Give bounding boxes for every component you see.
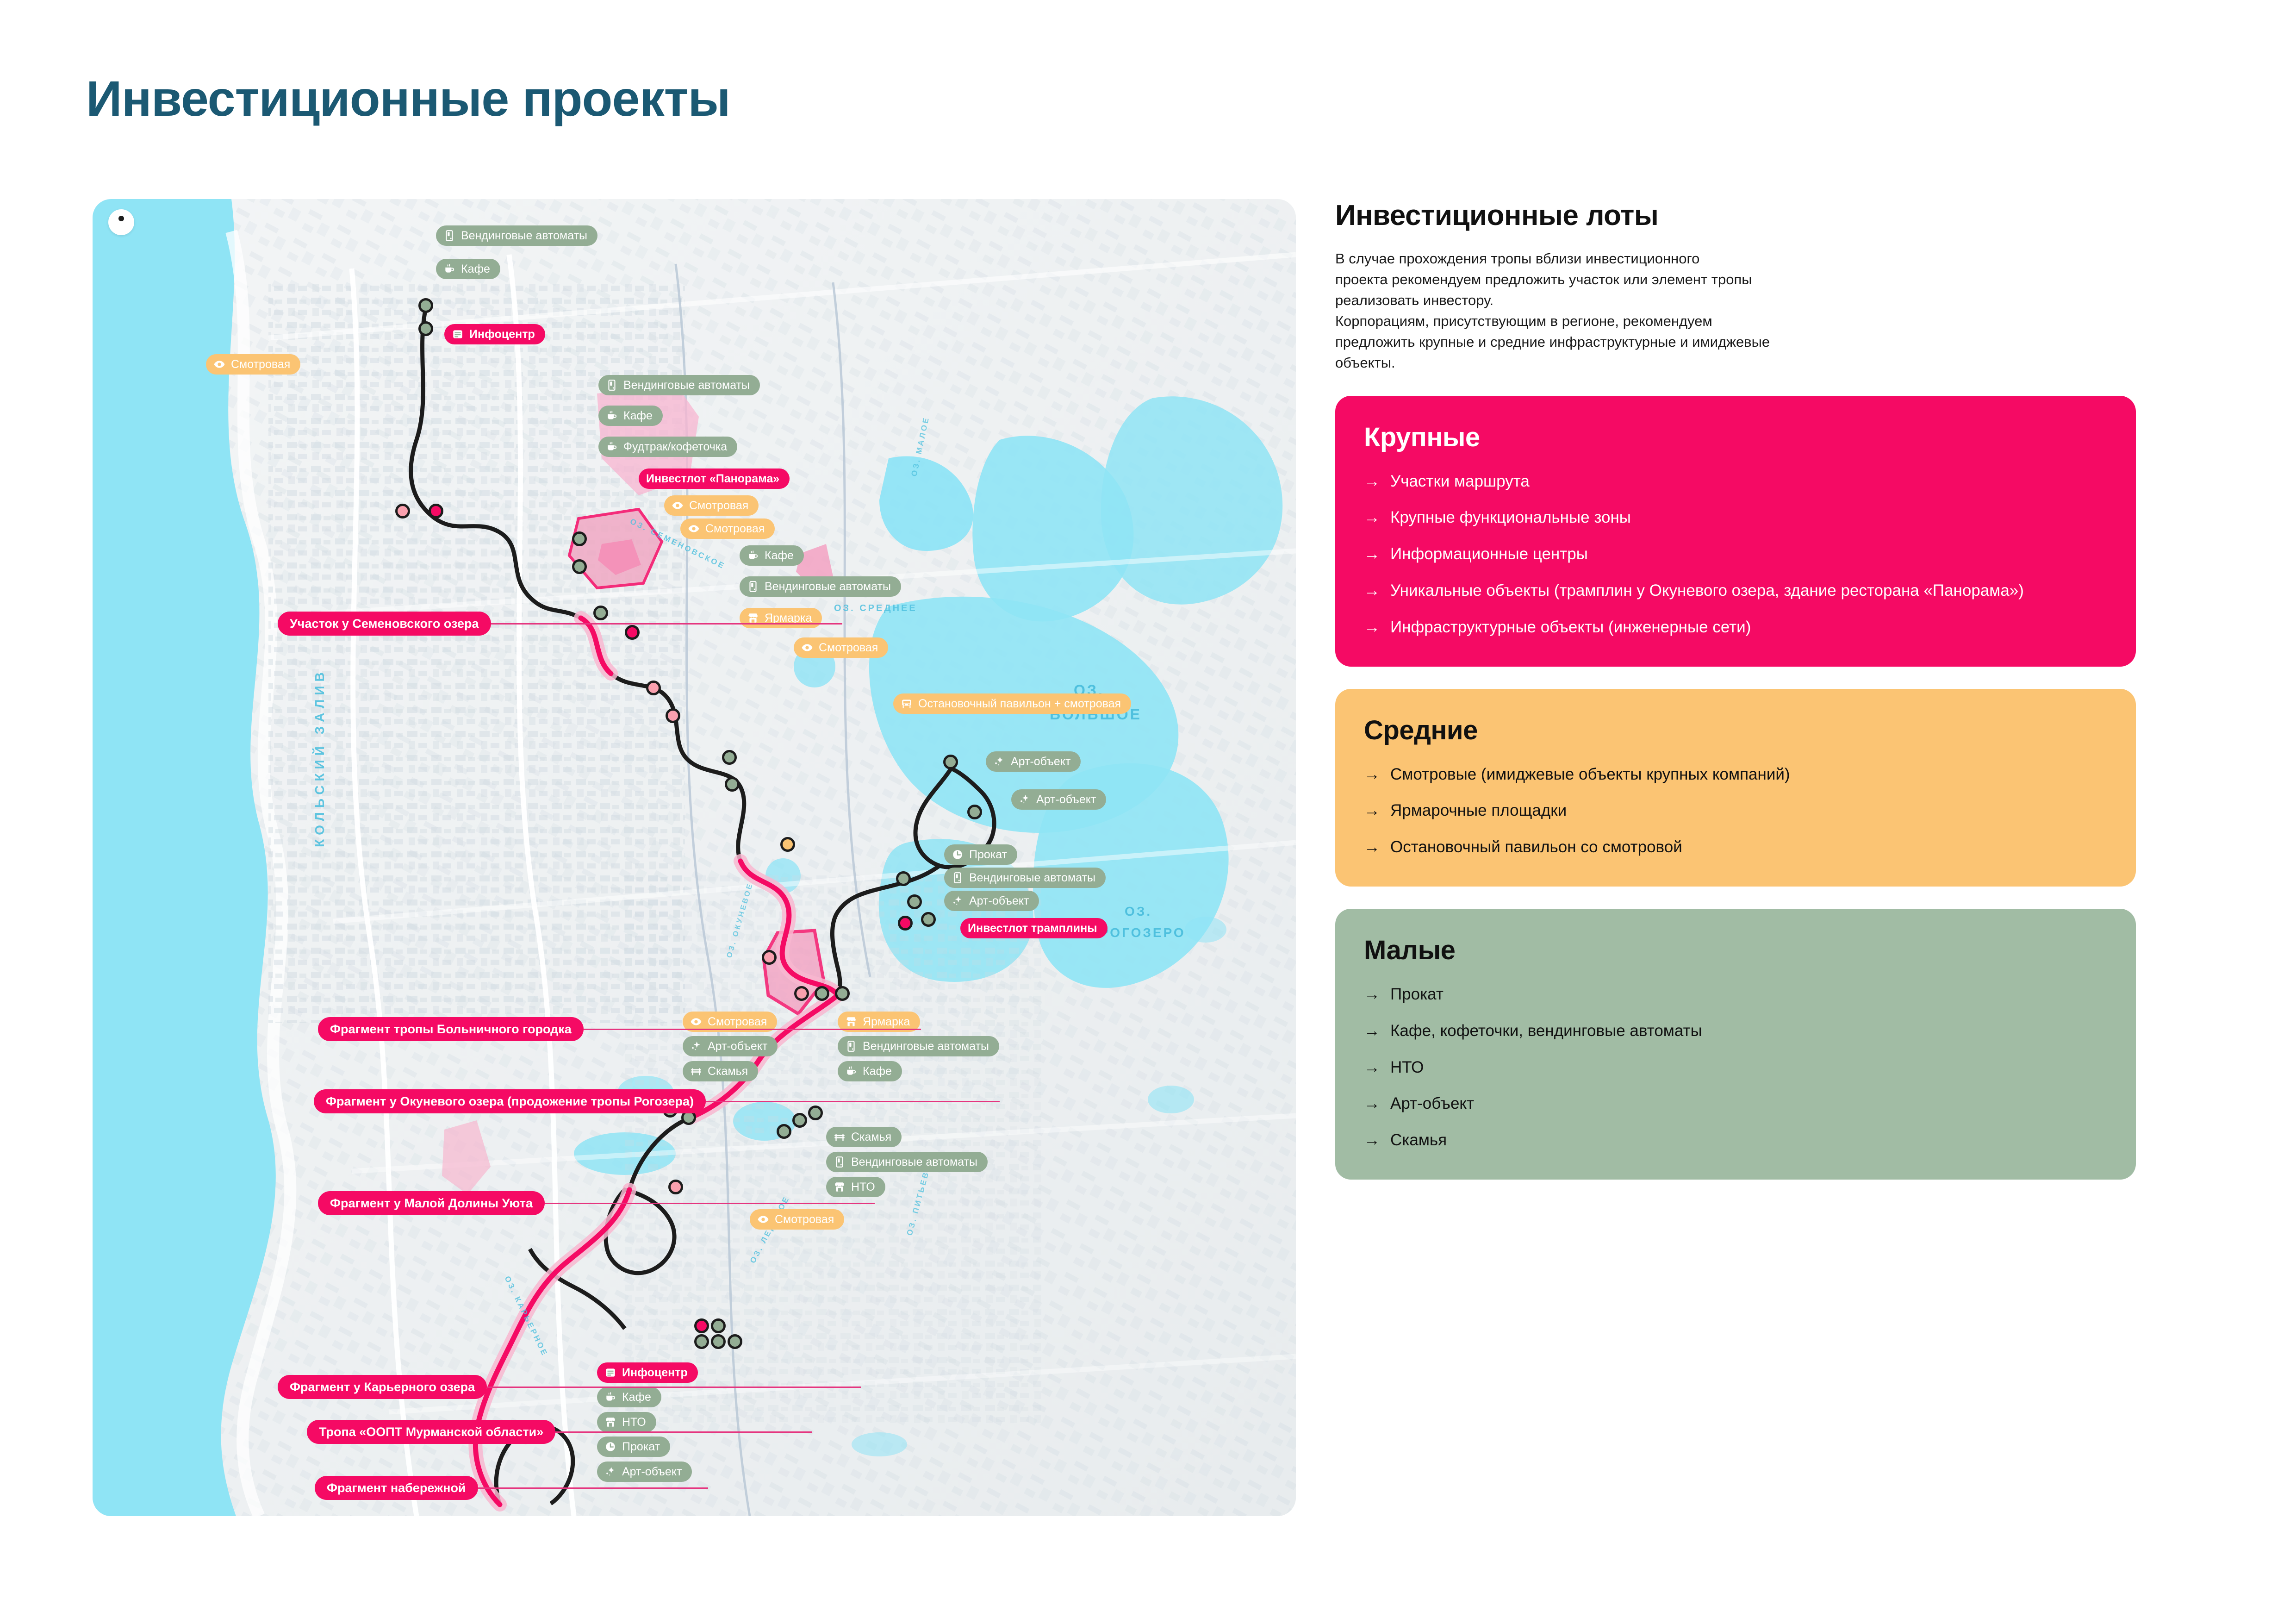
map-chip-c28[interactable]: Скамья bbox=[826, 1127, 902, 1147]
map-chip-label: Смотровая bbox=[231, 359, 290, 370]
lot-card-item-label: Уникальные объекты (трамплин у Окуневого… bbox=[1390, 581, 2024, 601]
svg-text:ОЗ. СРЕДНЕЕ: ОЗ. СРЕДНЕЕ bbox=[834, 603, 917, 613]
trail-point[interactable] bbox=[666, 708, 680, 723]
map-chip-c20[interactable]: Арт-объект bbox=[944, 891, 1039, 911]
map-chip-c13[interactable]: Ярмарка bbox=[740, 608, 822, 628]
lots-description-line: реализовать инвестору. bbox=[1335, 290, 2136, 311]
kiosk-icon bbox=[604, 1416, 616, 1428]
lot-card-item: →Прокат bbox=[1364, 984, 2107, 1005]
map-chip-c30[interactable]: НТО bbox=[826, 1177, 885, 1197]
lots-description: В случае прохождения тропы вблизи инвест… bbox=[1335, 249, 2136, 374]
market-stall-icon bbox=[747, 612, 759, 624]
lot-card-item: →Инфраструктурные объекты (инженерные се… bbox=[1364, 617, 2107, 638]
map-chip-label: Инвестлот «Панорама» bbox=[646, 473, 779, 485]
map-chip-c7[interactable]: Фудтрак/кофеточка bbox=[598, 437, 737, 457]
arrow-right-icon: → bbox=[1364, 1057, 1380, 1078]
trail-point[interactable] bbox=[395, 504, 410, 518]
lot-card-item-label: Прокат bbox=[1390, 984, 1444, 1005]
map-chip-c5[interactable]: Вендинговые автоматы bbox=[598, 375, 760, 395]
svg-text:ОЗ.: ОЗ. bbox=[1125, 904, 1152, 918]
lot-card-big: Крупные→Участки маршрута→Крупные функцио… bbox=[1335, 396, 2136, 667]
map-chip-c23[interactable]: Арт-объект bbox=[683, 1036, 778, 1056]
lot-card-item: →Уникальные объекты (трамплин у Окуневог… bbox=[1364, 581, 2107, 601]
map-chip-c18[interactable]: Прокат bbox=[944, 844, 1017, 865]
map-chip-c15[interactable]: Остановочный павильон + смотровая bbox=[893, 693, 1131, 714]
trail-point[interactable] bbox=[896, 871, 911, 886]
lot-card-title: Средние bbox=[1364, 715, 2107, 746]
map-callout-k6[interactable]: Тропа «ООПТ Мурманской области» bbox=[307, 1420, 555, 1444]
map-chip-c34[interactable]: НТО bbox=[597, 1412, 656, 1432]
map-chip-label: Фудтрак/кофеточка bbox=[623, 441, 727, 453]
market-stall-icon bbox=[845, 1016, 857, 1028]
trail-point[interactable] bbox=[762, 950, 777, 965]
callout-leader-line bbox=[545, 1203, 875, 1204]
map-chip-label: НТО bbox=[622, 1417, 646, 1428]
map-callout-k7[interactable]: Фрагмент набережной bbox=[315, 1476, 478, 1500]
map-chip-c24[interactable]: Скамья bbox=[683, 1061, 758, 1081]
eye-icon bbox=[213, 358, 225, 370]
map-chip-label: Инфоцентр bbox=[469, 329, 535, 340]
map-panel[interactable]: ОЗ. БОЛЬШОЕ ОЗ. РОГОЗЕРО ОЗ. СРЕДНЕЕ ОЗ.… bbox=[93, 199, 1296, 1516]
lots-description-line: Корпорациям, присутствующим в регионе, р… bbox=[1335, 311, 2136, 332]
trail-point[interactable] bbox=[794, 986, 809, 1001]
vending-machine-icon bbox=[952, 872, 964, 884]
eye-icon bbox=[801, 642, 813, 654]
map-chip-label: Арт-объект bbox=[1036, 794, 1096, 806]
trail-point[interactable] bbox=[418, 321, 433, 336]
lot-card-item: →Смотровые (имиджевые объекты крупных ко… bbox=[1364, 764, 2107, 785]
map-chip-label: Скамья bbox=[708, 1066, 748, 1077]
map-chip-c3[interactable]: Инфоцентр bbox=[444, 324, 545, 344]
trail-point[interactable] bbox=[572, 559, 587, 574]
map-chip-label: Скамья bbox=[851, 1131, 891, 1143]
callout-leader-line bbox=[491, 623, 842, 625]
lot-card-item: →Ярмарочные площадки bbox=[1364, 800, 2107, 821]
lot-card-item: →Участки маршрута bbox=[1364, 471, 2107, 492]
map-chip-c17[interactable]: Арт-объект bbox=[1011, 789, 1106, 810]
sparkle-icon bbox=[604, 1466, 616, 1478]
kiosk-icon bbox=[834, 1181, 846, 1193]
map-chip-label: Ярмарка bbox=[765, 612, 812, 624]
map-chip-label: Смотровая bbox=[705, 523, 765, 535]
lot-card-item: →НТО bbox=[1364, 1057, 2107, 1078]
sparkle-icon bbox=[952, 895, 964, 907]
map-chip-c16[interactable]: Арт-объект bbox=[986, 751, 1081, 772]
trail-point[interactable] bbox=[593, 606, 608, 620]
bus-stop-icon bbox=[901, 698, 913, 710]
svg-text:КОЛЬСКИЙ ЗАЛИВ: КОЛЬСКИЙ ЗАЛИВ bbox=[312, 668, 327, 847]
lot-card-list: →Прокат→Кафе, кофеточки, вендинговые авт… bbox=[1364, 984, 2107, 1151]
callout-leader-line bbox=[478, 1487, 708, 1489]
callout-leader-line bbox=[706, 1101, 1000, 1102]
arrow-right-icon: → bbox=[1364, 764, 1380, 785]
map-chip-c31[interactable]: Смотровая bbox=[750, 1209, 844, 1230]
lot-card-item-label: Скамья bbox=[1390, 1130, 1447, 1151]
lot-card-item-label: Крупные функциональные зоны bbox=[1390, 507, 1631, 528]
map-chip-label: Арт-объект bbox=[708, 1041, 767, 1052]
map-chip-label: Вендинговые автоматы bbox=[863, 1041, 989, 1052]
trail-point[interactable] bbox=[711, 1334, 726, 1349]
trail-point[interactable] bbox=[725, 777, 740, 792]
map-chip-label: Кафе bbox=[461, 263, 490, 275]
trail-point[interactable] bbox=[898, 916, 913, 931]
coffee-cup-icon bbox=[443, 263, 455, 275]
lot-card-small: Малые→Прокат→Кафе, кофеточки, вендинговы… bbox=[1335, 909, 2136, 1180]
eye-icon bbox=[688, 523, 700, 535]
trail-point[interactable] bbox=[711, 1318, 726, 1333]
vending-machine-icon bbox=[443, 230, 455, 242]
eye-icon bbox=[690, 1016, 702, 1028]
coffee-cup-icon bbox=[604, 1391, 616, 1403]
map-chip-label: Вендинговые автоматы bbox=[765, 581, 891, 593]
trail-point[interactable] bbox=[572, 531, 587, 546]
map-chip-label: Вендинговые автоматы bbox=[623, 380, 750, 391]
sparkle-icon bbox=[1019, 793, 1031, 806]
map-chip-label: Смотровая bbox=[689, 500, 748, 512]
map-chip-label: Кафе bbox=[863, 1066, 892, 1077]
lots-cards: Крупные→Участки маршрута→Крупные функцио… bbox=[1335, 396, 2136, 1180]
info-board-icon bbox=[452, 328, 464, 340]
map-chip-c32[interactable]: Инфоцентр bbox=[597, 1362, 698, 1383]
map-chip-label: Инфоцентр bbox=[622, 1367, 688, 1379]
trail-point[interactable] bbox=[668, 1180, 683, 1194]
lots-description-line: проекта рекомендуем предложить участок и… bbox=[1335, 269, 2136, 290]
svg-text:РОГОЗЕРО: РОГОЗЕРО bbox=[1100, 925, 1186, 940]
lot-card-item-label: Остановочный павильон со смотровой bbox=[1390, 837, 1682, 858]
arrow-right-icon: → bbox=[1364, 471, 1380, 492]
map-callout-k4[interactable]: Фрагмент у Малой Долины Уюта bbox=[318, 1191, 545, 1215]
map-chip-label: Остановочный павильон + смотровая bbox=[918, 698, 1121, 710]
map-chip-c21[interactable]: Инвестлот трамплины bbox=[960, 918, 1108, 938]
trail-point[interactable] bbox=[921, 912, 936, 927]
lot-card-item: →Арт-объект bbox=[1364, 1093, 2107, 1114]
callout-leader-line bbox=[487, 1387, 861, 1388]
lot-card-item-label: Смотровые (имиджевые объекты крупных ком… bbox=[1390, 764, 1790, 785]
trail-point[interactable] bbox=[780, 837, 795, 852]
map-chip-label: Арт-объект bbox=[1011, 756, 1070, 768]
lot-card-item-label: Арт-объект bbox=[1390, 1093, 1474, 1114]
lots-description-line: В случае прохождения тропы вблизи инвест… bbox=[1335, 249, 2136, 269]
lot-card-item-label: Участки маршрута bbox=[1390, 471, 1530, 492]
arrow-right-icon: → bbox=[1364, 984, 1380, 1005]
lot-card-medium: Средние→Смотровые (имиджевые объекты кру… bbox=[1335, 689, 2136, 887]
arrow-right-icon: → bbox=[1364, 800, 1380, 821]
rental-clock-icon bbox=[604, 1441, 616, 1453]
arrow-right-icon: → bbox=[1364, 1093, 1380, 1114]
map-chip-label: Арт-объект bbox=[622, 1466, 682, 1478]
trail-point[interactable] bbox=[625, 625, 640, 640]
map-chip-label: Инвестлот трамплины bbox=[968, 923, 1097, 934]
trail-point[interactable] bbox=[694, 1334, 709, 1349]
callout-leader-line bbox=[555, 1431, 812, 1433]
lots-title: Инвестиционные лоты bbox=[1335, 199, 2136, 232]
vending-machine-icon bbox=[747, 581, 759, 593]
map-chip-c12[interactable]: Вендинговые автоматы bbox=[740, 576, 901, 597]
map-chip-label: НТО bbox=[851, 1181, 875, 1193]
map-chip-c26[interactable]: Вендинговые автоматы bbox=[838, 1036, 999, 1056]
lot-card-item: →Информационные центры bbox=[1364, 544, 2107, 565]
trail-point[interactable] bbox=[722, 750, 737, 765]
map-chip-label: Кафе bbox=[765, 550, 794, 562]
arrow-right-icon: → bbox=[1364, 507, 1380, 528]
map-callout-k2[interactable]: Фрагмент тропы Больничного городка bbox=[318, 1017, 584, 1041]
map-chip-label: Прокат bbox=[969, 849, 1007, 861]
callout-leader-line bbox=[584, 1029, 921, 1030]
arrow-right-icon: → bbox=[1364, 544, 1380, 565]
eye-icon bbox=[672, 500, 684, 512]
lot-card-item-label: Инфраструктурные объекты (инженерные сет… bbox=[1390, 617, 1751, 638]
lot-card-item-label: Ярмарочные площадки bbox=[1390, 800, 1567, 821]
vending-machine-icon bbox=[606, 379, 618, 391]
lots-description-line: предложить крупные и средние инфраструкт… bbox=[1335, 332, 2136, 353]
trail-point[interactable] bbox=[907, 894, 922, 909]
lot-card-list: →Участки маршрута→Крупные функциональные… bbox=[1364, 471, 2107, 638]
trail-point[interactable] bbox=[835, 986, 850, 1001]
trail-point[interactable] bbox=[429, 504, 443, 518]
map-chip-label: Кафе bbox=[623, 410, 653, 422]
trail-point[interactable] bbox=[815, 986, 829, 1001]
map-chip-c36[interactable]: Арт-объект bbox=[597, 1462, 692, 1482]
lot-card-item: →Кафе, кофеточки, вендинговые автоматы bbox=[1364, 1021, 2107, 1042]
map-chip-label: Арт-объект bbox=[969, 895, 1029, 907]
map-callout-k3[interactable]: Фрагмент у Окуневого озера (продожение т… bbox=[314, 1089, 706, 1113]
coffee-cup-icon bbox=[747, 550, 759, 562]
trail-point[interactable] bbox=[777, 1124, 791, 1139]
map-base-graphic: ОЗ. БОЛЬШОЕ ОЗ. РОГОЗЕРО ОЗ. СРЕДНЕЕ ОЗ.… bbox=[93, 199, 1296, 1516]
trail-point[interactable] bbox=[646, 681, 661, 695]
map-chip-c10[interactable]: Смотровая bbox=[680, 518, 775, 539]
map-chip-label: Вендинговые автоматы bbox=[969, 872, 1095, 884]
lot-card-item-label: НТО bbox=[1390, 1057, 1424, 1078]
sparkle-icon bbox=[993, 756, 1005, 768]
map-chip-label: Вендинговые автоматы bbox=[461, 230, 587, 242]
map-chip-c2[interactable]: Кафе bbox=[436, 259, 500, 279]
map-chip-label: Смотровая bbox=[775, 1214, 834, 1225]
trail-point[interactable] bbox=[728, 1334, 742, 1349]
lot-card-list: →Смотровые (имиджевые объекты крупных ко… bbox=[1364, 764, 2107, 858]
arrow-right-icon: → bbox=[1364, 837, 1380, 858]
page-title: Инвестиционные проекты bbox=[86, 69, 730, 127]
map-chip-c1[interactable]: Вендинговые автоматы bbox=[436, 225, 597, 246]
arrow-right-icon: → bbox=[1364, 1021, 1380, 1042]
vending-machine-icon bbox=[845, 1040, 857, 1052]
rental-clock-icon bbox=[952, 849, 964, 861]
coffee-cup-icon bbox=[606, 441, 618, 453]
sparkle-icon bbox=[690, 1040, 702, 1052]
map-chip-c29[interactable]: Вендинговые автоматы bbox=[826, 1152, 988, 1172]
trail-point[interactable] bbox=[418, 298, 433, 313]
map-chip-c19[interactable]: Вендинговые автоматы bbox=[944, 868, 1106, 888]
arrow-right-icon: → bbox=[1364, 581, 1380, 601]
lot-card-item: →Крупные функциональные зоны bbox=[1364, 507, 2107, 528]
trail-point[interactable] bbox=[694, 1318, 709, 1333]
map-chip-c8[interactable]: Инвестлот «Панорама» bbox=[639, 468, 790, 489]
map-chip-label: Смотровая bbox=[708, 1016, 767, 1028]
map-chip-label: Ярмарка bbox=[863, 1016, 910, 1028]
trail-point[interactable] bbox=[943, 755, 958, 769]
eye-icon bbox=[757, 1213, 769, 1225]
bench-icon bbox=[834, 1131, 846, 1143]
investment-lots-panel: Инвестиционные лоты В случае прохождения… bbox=[1335, 199, 2136, 1180]
map-chip-c4[interactable]: Смотровая bbox=[206, 354, 300, 375]
lot-card-title: Крупные bbox=[1364, 422, 2107, 453]
arrow-right-icon: → bbox=[1364, 1130, 1380, 1151]
bench-icon bbox=[690, 1065, 702, 1077]
map-chip-label: Вендинговые автоматы bbox=[851, 1156, 977, 1168]
trail-point[interactable] bbox=[808, 1106, 823, 1120]
lot-card-title: Малые bbox=[1364, 935, 2107, 966]
arrow-right-icon: → bbox=[1364, 617, 1380, 638]
map-chip-c9[interactable]: Смотровая bbox=[664, 495, 759, 516]
map-chip-label: Смотровая bbox=[819, 642, 878, 654]
trail-point[interactable] bbox=[967, 805, 982, 819]
lot-card-item: →Скамья bbox=[1364, 1130, 2107, 1151]
coffee-cup-icon bbox=[845, 1065, 857, 1077]
lot-card-item-label: Информационные центры bbox=[1390, 544, 1588, 565]
map-chip-c11[interactable]: Кафе bbox=[740, 545, 804, 566]
info-board-icon bbox=[604, 1367, 616, 1379]
map-chip-c27[interactable]: Кафе bbox=[838, 1061, 902, 1081]
map-chip-c35[interactable]: Прокат bbox=[597, 1437, 670, 1457]
map-chip-c14[interactable]: Смотровая bbox=[794, 637, 888, 658]
lot-card-item: →Остановочный павильон со смотровой bbox=[1364, 837, 2107, 858]
map-chip-c6[interactable]: Кафе bbox=[598, 406, 663, 426]
lots-description-line: объекты. bbox=[1335, 353, 2136, 374]
vending-machine-icon bbox=[834, 1156, 846, 1168]
map-chip-label: Прокат bbox=[622, 1441, 660, 1453]
map-pin-dot-icon[interactable] bbox=[108, 209, 134, 235]
map-chip-c33[interactable]: Кафе bbox=[597, 1387, 661, 1407]
coffee-cup-icon bbox=[606, 410, 618, 422]
trail-point[interactable] bbox=[792, 1113, 807, 1128]
map-callout-k5[interactable]: Фрагмент у Карьерного озера bbox=[278, 1375, 487, 1399]
map-chip-label: Кафе bbox=[622, 1392, 651, 1403]
map-callout-k1[interactable]: Участок у Семеновского озера bbox=[278, 612, 491, 636]
lot-card-item-label: Кафе, кофеточки, вендинговые автоматы bbox=[1390, 1021, 1702, 1042]
